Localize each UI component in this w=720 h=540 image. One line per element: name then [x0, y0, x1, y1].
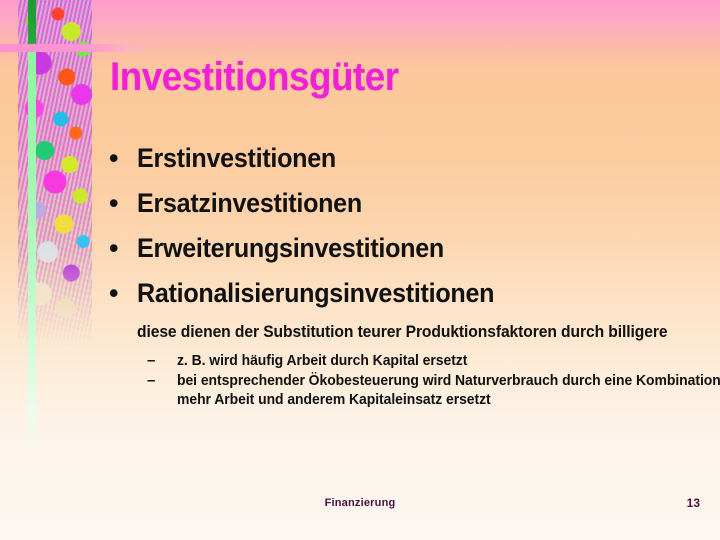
list-item: • Ersatzinvestitionen [104, 181, 718, 226]
list-item: • Erstinvestitionen [104, 136, 718, 181]
list-item: • Erweiterungsinvestitionen [104, 226, 718, 271]
dash-icon: – [147, 371, 155, 390]
sub-list: – z. B. wird häufig Arbeit durch Kapital… [104, 351, 718, 409]
slide-body: • Erstinvestitionen • Ersatzinvestitione… [104, 136, 718, 409]
sub-paragraph-text: diese dienen der Substitution teurer Pro… [137, 321, 720, 342]
bullet-icon: • [109, 136, 118, 181]
bullet-icon: • [109, 226, 118, 271]
sub-list-item-label: z. B. wird häufig Arbeit durch Kapital e… [177, 351, 720, 370]
list-item-label: Erweiterungsinvestitionen [137, 226, 444, 271]
decorative-pink-bar [0, 44, 150, 52]
decorative-dark-green-stripe [28, 0, 36, 44]
list-item-label: Rationalisierungsinvestitionen [137, 271, 494, 316]
sub-paragraph: diese dienen der Substitution teurer Pro… [104, 321, 718, 342]
list-item-label: Erstinvestitionen [137, 136, 336, 181]
sub-list-item: – z. B. wird häufig Arbeit durch Kapital… [143, 351, 718, 370]
bullet-icon: • [109, 271, 118, 316]
sub-list-item-label: bei entsprechender Ökobesteuerung wird N… [177, 371, 720, 409]
sub-list-item: – bei entsprechender Ökobesteuerung wird… [143, 371, 718, 409]
list-item-label: Ersatzinvestitionen [137, 181, 362, 226]
slide-title: Investitionsgüter [110, 54, 399, 100]
list-item: • Rationalisierungsinvestitionen [104, 271, 718, 316]
footer-label: Finanzierung [0, 497, 720, 509]
page-number: 13 [687, 496, 700, 510]
bullet-icon: • [109, 181, 118, 226]
dash-icon: – [147, 351, 155, 370]
decorative-light-green-stripe [28, 44, 36, 454]
presentation-slide: Investitionsgüter • Erstinvestitionen • … [0, 0, 720, 540]
